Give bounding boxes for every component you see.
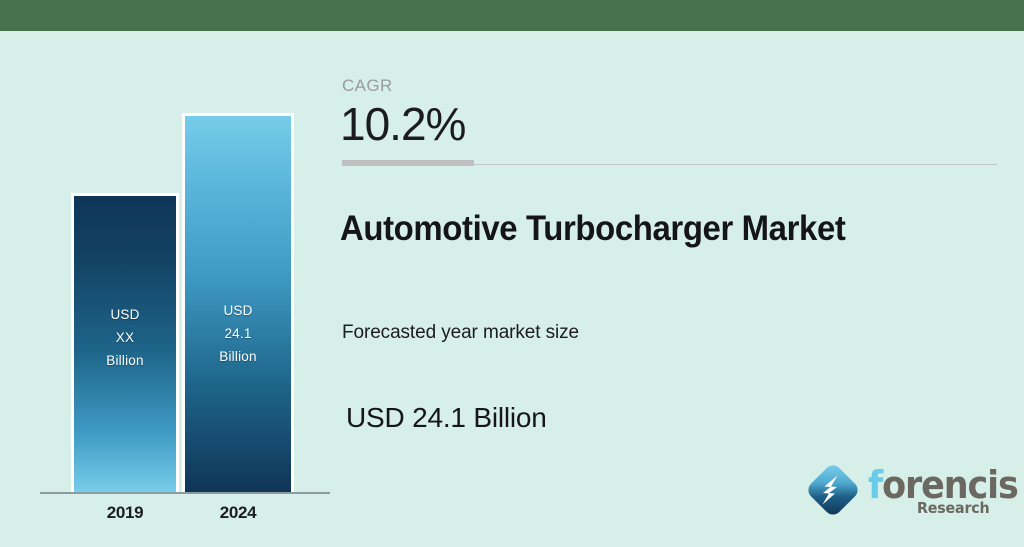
forencis-subtitle: Research bbox=[917, 499, 990, 517]
infographic-root: USD XX Billion USD 24.1 Billion 2019 202… bbox=[0, 0, 1024, 547]
bar-2024-unit: Billion bbox=[185, 345, 291, 368]
forencis-research-logo: forencis Research bbox=[802, 451, 1012, 531]
x-tick-2019: 2019 bbox=[71, 503, 179, 523]
bar-2024-currency: USD bbox=[185, 299, 291, 322]
forencis-wordmark: forencis Research bbox=[868, 463, 1013, 519]
forecast-label: Forecasted year market size bbox=[342, 322, 579, 344]
bar-2019-currency: USD bbox=[74, 303, 176, 326]
bars-area: USD XX Billion USD 24.1 Billion bbox=[0, 31, 335, 492]
page-title: Automotive Turbocharger Market bbox=[340, 209, 845, 249]
bar-2019-value: XX bbox=[74, 326, 176, 349]
x-tick-2024: 2024 bbox=[182, 503, 294, 523]
section-divider bbox=[342, 160, 997, 166]
bar-2024: USD 24.1 Billion bbox=[182, 113, 294, 492]
forencis-lead-letter: f bbox=[868, 463, 882, 507]
chart-x-axis-ticks: 2019 2024 bbox=[0, 503, 335, 543]
forencis-diamond-f-icon bbox=[802, 459, 864, 521]
bar-2019-unit: Billion bbox=[74, 349, 176, 372]
divider-accent-bar bbox=[342, 160, 474, 166]
content-panel: CAGR 10.2% Automotive Turbocharger Marke… bbox=[340, 31, 1024, 547]
cagr-label: CAGR bbox=[342, 76, 393, 96]
bar-2019: USD XX Billion bbox=[71, 193, 179, 492]
top-green-band bbox=[0, 0, 1024, 31]
chart-baseline-axis bbox=[40, 492, 330, 494]
bar-chart-panel: USD XX Billion USD 24.1 Billion 2019 202… bbox=[0, 31, 335, 547]
forecast-value: USD 24.1 Billion bbox=[346, 402, 547, 434]
bar-2024-label: USD 24.1 Billion bbox=[185, 299, 291, 368]
bar-2019-label: USD XX Billion bbox=[74, 303, 176, 372]
bar-2024-value: 24.1 bbox=[185, 322, 291, 345]
cagr-value: 10.2% bbox=[340, 97, 465, 151]
